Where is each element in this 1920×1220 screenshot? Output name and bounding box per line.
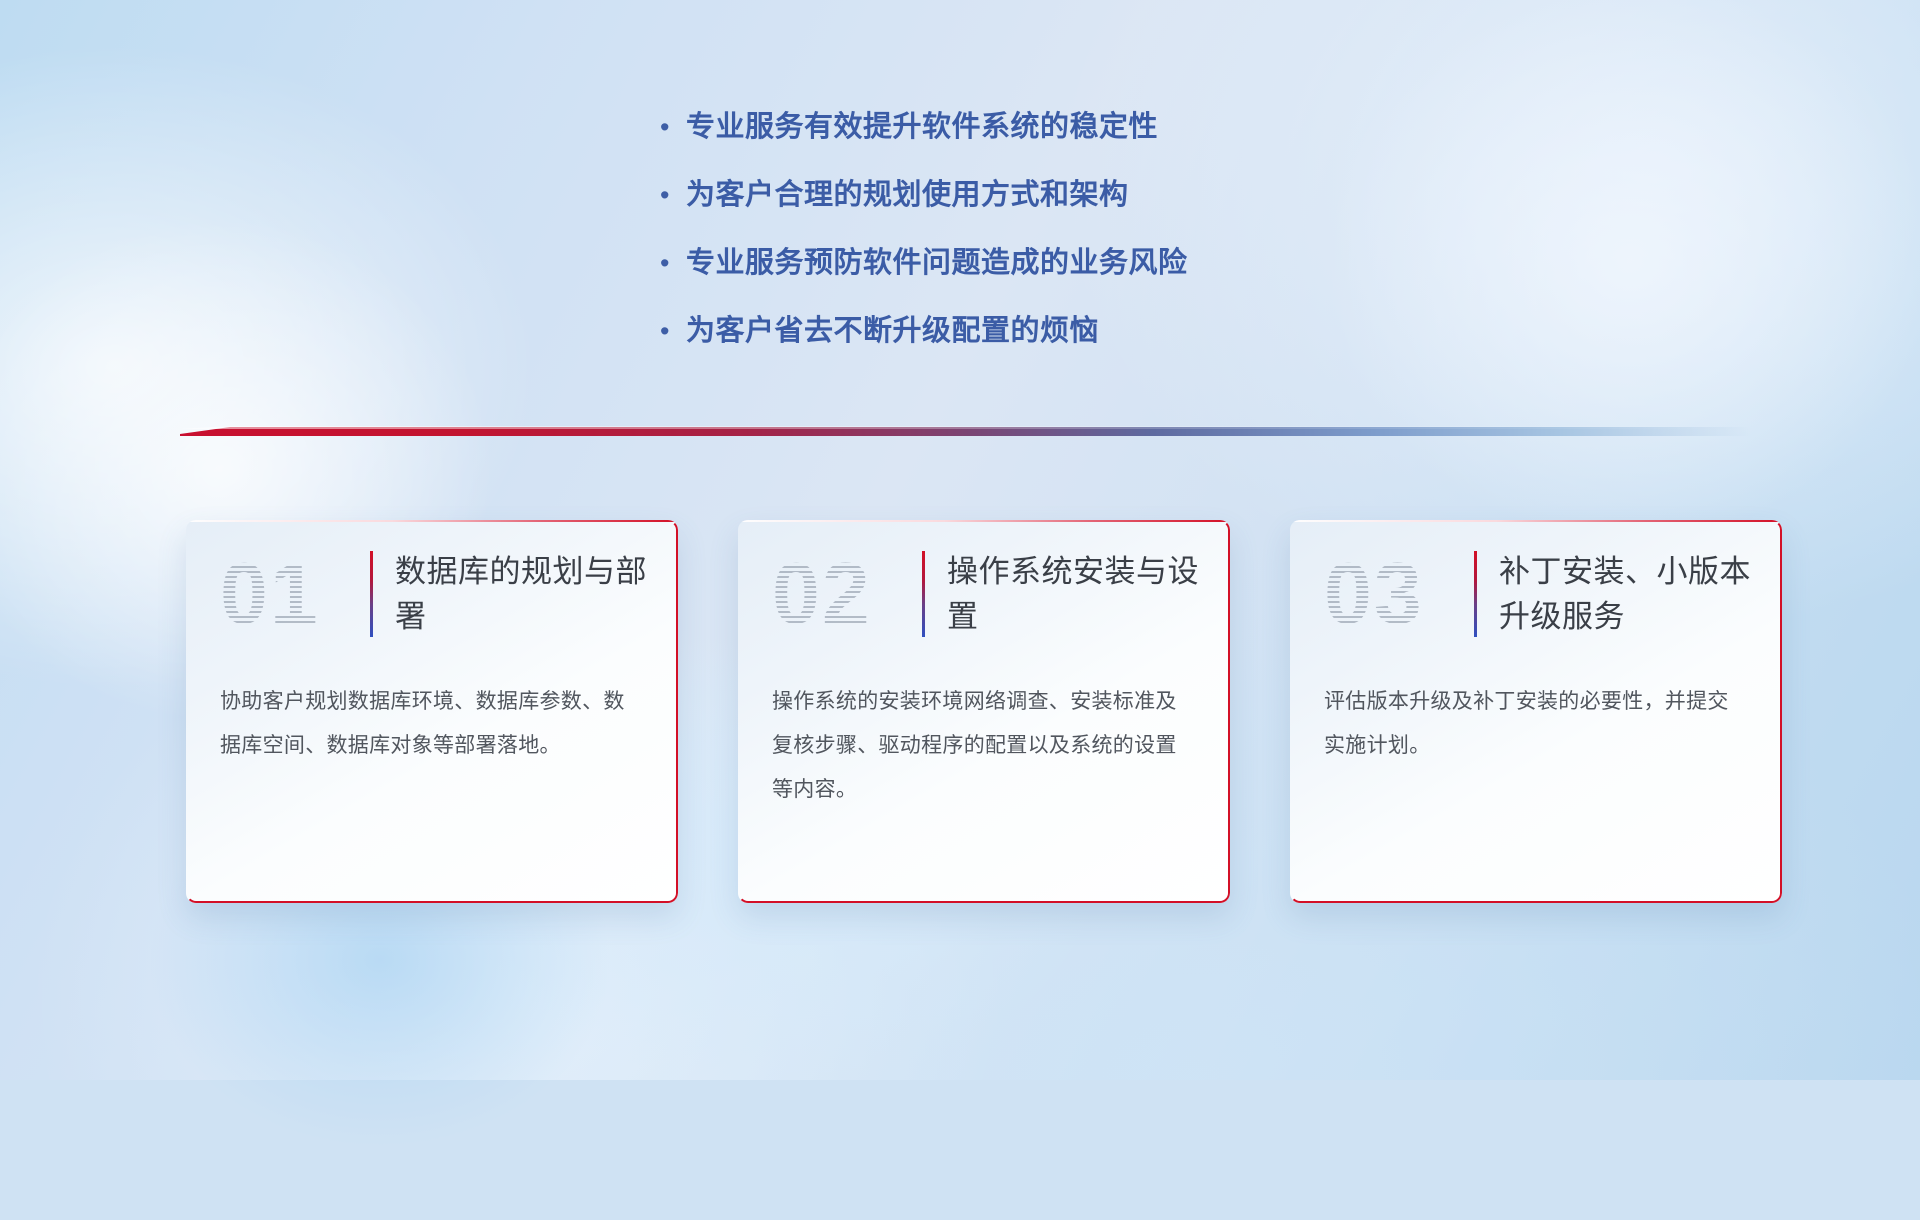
divider-highlight bbox=[180, 426, 1750, 429]
card-accent-bar-icon bbox=[1474, 551, 1477, 637]
bullet-dot-icon: • bbox=[660, 174, 686, 216]
section-divider bbox=[180, 423, 1750, 441]
list-item: • 专业服务有效提升软件系统的稳定性 bbox=[660, 106, 1640, 148]
card-header: 02 操作系统安装与设置 bbox=[738, 520, 1230, 668]
bullet-dot-icon: • bbox=[660, 106, 686, 148]
list-item: • 为客户合理的规划使用方式和架构 bbox=[660, 174, 1640, 216]
service-card[interactable]: 02 操作系统安装与设置 操作系统的安装环境网络调查、安装标准及复核步骤、驱动程… bbox=[738, 520, 1230, 903]
service-card-row: 01 数据库的规划与部署 协助客户规划数据库环境、数据库参数、数据库空间、数据库… bbox=[186, 520, 1782, 903]
card-accent-bar-icon bbox=[370, 551, 373, 637]
card-description: 协助客户规划数据库环境、数据库参数、数据库空间、数据库对象等部署落地。 bbox=[186, 668, 678, 768]
card-title: 补丁安装、小版本升级服务 bbox=[1499, 549, 1754, 639]
service-card[interactable]: 01 数据库的规划与部署 协助客户规划数据库环境、数据库参数、数据库空间、数据库… bbox=[186, 520, 678, 903]
bullet-text: 专业服务有效提升软件系统的稳定性 bbox=[686, 106, 1158, 148]
bullet-text: 专业服务预防软件问题造成的业务风险 bbox=[686, 242, 1188, 284]
list-item: • 专业服务预防软件问题造成的业务风险 bbox=[660, 242, 1640, 284]
bullet-text: 为客户合理的规划使用方式和架构 bbox=[686, 174, 1129, 216]
card-title: 数据库的规划与部署 bbox=[395, 549, 650, 639]
card-description: 操作系统的安装环境网络调查、安装标准及复核步骤、驱动程序的配置以及系统的设置等内… bbox=[738, 668, 1230, 812]
card-header: 03 补丁安装、小版本升级服务 bbox=[1290, 520, 1782, 668]
service-card[interactable]: 03 补丁安装、小版本升级服务 评估版本升级及补丁安装的必要性，并提交实施计划。 bbox=[1290, 520, 1782, 903]
bullet-dot-icon: • bbox=[660, 242, 686, 284]
card-description: 评估版本升级及补丁安装的必要性，并提交实施计划。 bbox=[1290, 668, 1782, 768]
bullet-text: 为客户省去不断升级配置的烦恼 bbox=[686, 310, 1099, 352]
card-number: 02 bbox=[772, 551, 922, 637]
card-title: 操作系统安装与设置 bbox=[947, 549, 1202, 639]
benefits-bullet-list: • 专业服务有效提升软件系统的稳定性 • 为客户合理的规划使用方式和架构 • 专… bbox=[660, 106, 1640, 378]
bullet-dot-icon: • bbox=[660, 310, 686, 352]
list-item: • 为客户省去不断升级配置的烦恼 bbox=[660, 310, 1640, 352]
card-number: 01 bbox=[220, 551, 370, 637]
card-header: 01 数据库的规划与部署 bbox=[186, 520, 678, 668]
card-accent-bar-icon bbox=[922, 551, 925, 637]
card-number: 03 bbox=[1324, 551, 1474, 637]
